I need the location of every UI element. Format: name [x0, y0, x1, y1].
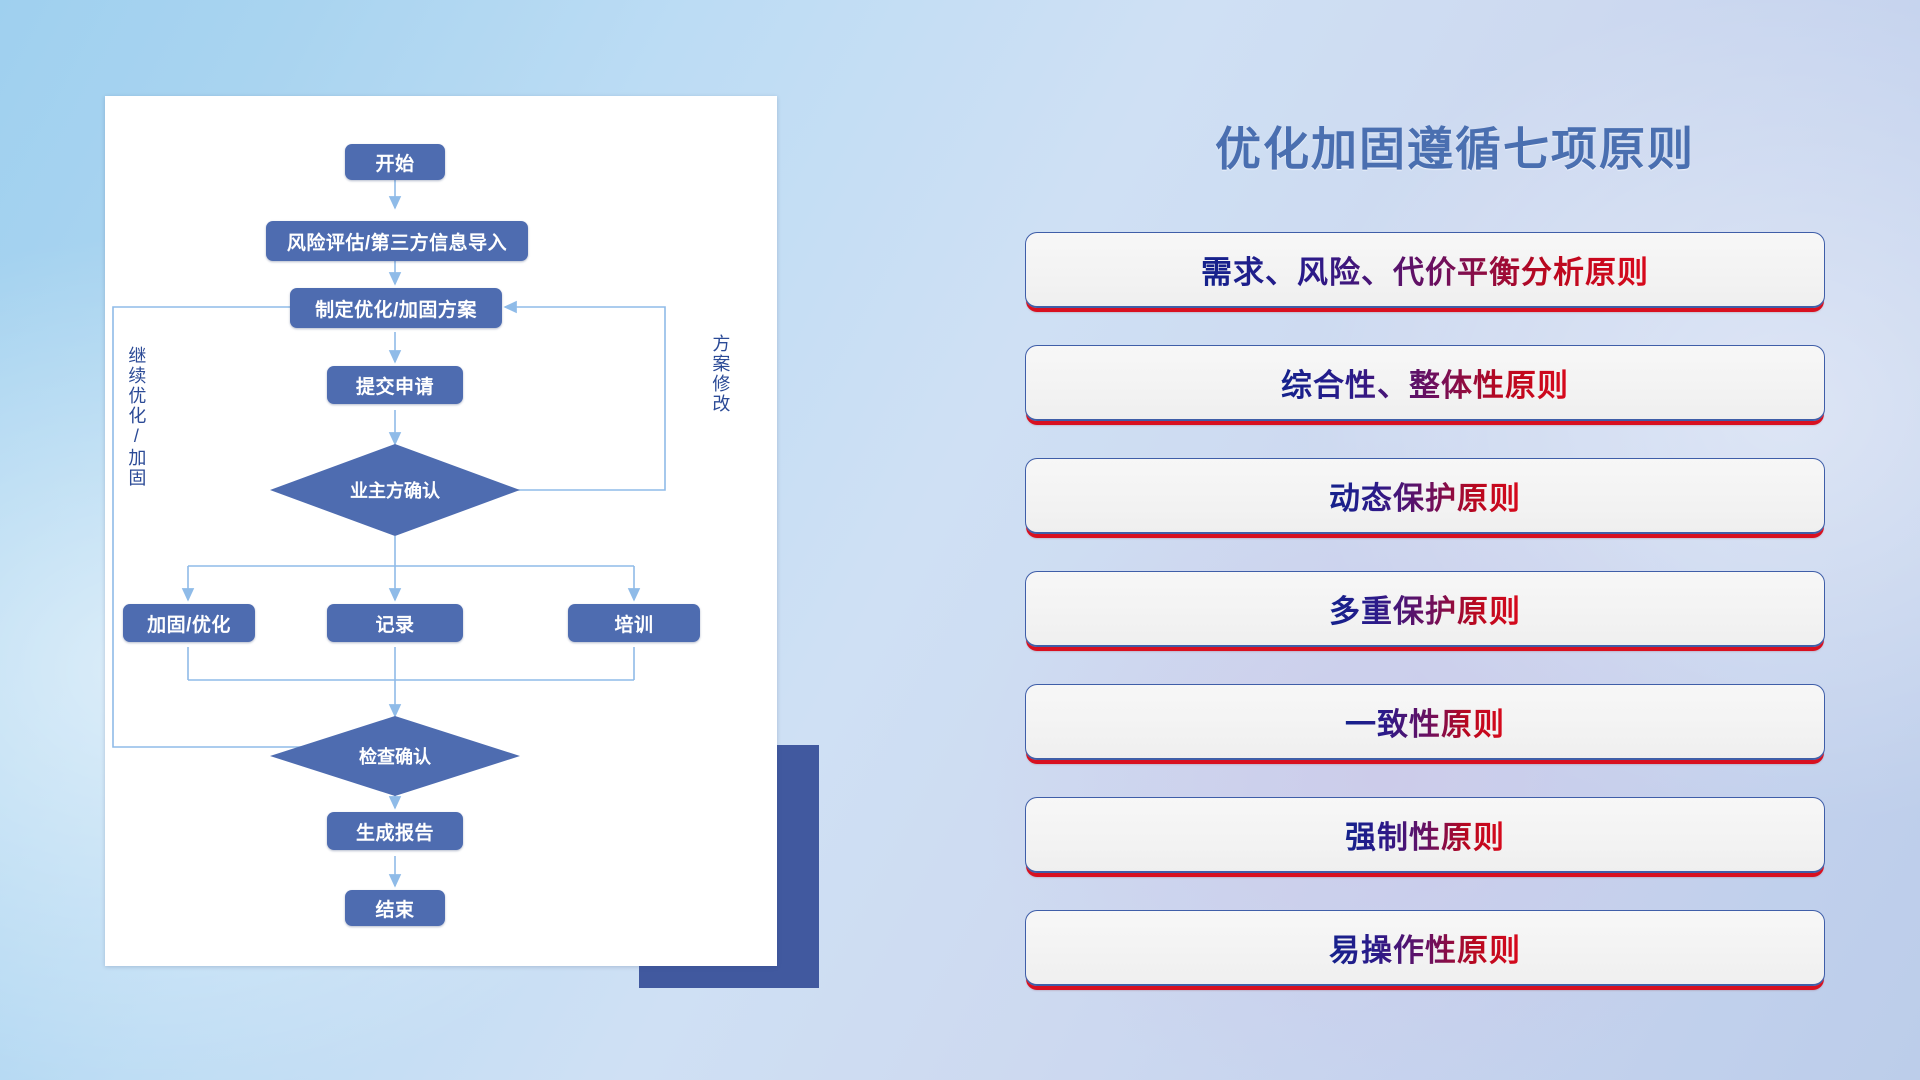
flow-node-plan[interactable]: 制定优化/加固方案	[290, 288, 502, 328]
flow-node-label: 结束	[375, 895, 414, 922]
flow-node-label: 业主方确认	[350, 477, 440, 503]
flow-node-label: 提交申请	[356, 372, 434, 399]
flow-node-record[interactable]: 记录	[327, 604, 463, 642]
principle-card-1[interactable]: 需求、风险、代价平衡分析原则	[1025, 232, 1825, 308]
principle-card-5[interactable]: 一致性原则	[1025, 684, 1825, 760]
principle-label: 多重保护原则	[1329, 586, 1521, 631]
principle-label: 动态保护原则	[1329, 473, 1521, 518]
flow-node-label: 加固/优化	[147, 610, 231, 637]
flow-node-training[interactable]: 培训	[568, 604, 700, 642]
flow-node-label: 生成报告	[356, 818, 434, 845]
flow-decision-check-confirm[interactable]: 检查确认	[270, 716, 520, 796]
flow-node-label: 培训	[614, 610, 653, 637]
principle-card-3[interactable]: 动态保护原则	[1025, 458, 1825, 534]
principle-card-7[interactable]: 易操作性原则	[1025, 910, 1825, 986]
flowchart-card: 开始 风险评估/第三方信息导入 制定优化/加固方案 提交申请 业主方确认 加固/…	[105, 96, 777, 966]
flow-node-report[interactable]: 生成报告	[327, 812, 463, 850]
flow-node-reinforce[interactable]: 加固/优化	[123, 604, 255, 642]
flow-node-end[interactable]: 结束	[345, 890, 445, 926]
flow-node-submit[interactable]: 提交申请	[327, 366, 463, 404]
principle-label: 综合性、整体性原则	[1281, 360, 1569, 405]
flow-node-label: 记录	[375, 610, 414, 637]
loop-label-right: 方案修改	[711, 334, 729, 414]
principles-list: 需求、风险、代价平衡分析原则 综合性、整体性原则 动态保护原则 多重保护原则 一…	[1025, 232, 1825, 1023]
flow-decision-owner-confirm[interactable]: 业主方确认	[270, 444, 520, 536]
principle-card-4[interactable]: 多重保护原则	[1025, 571, 1825, 647]
flow-node-label: 风险评估/第三方信息导入	[287, 228, 507, 255]
principle-label: 易操作性原则	[1329, 925, 1521, 970]
principle-card-2[interactable]: 综合性、整体性原则	[1025, 345, 1825, 421]
flow-node-label: 开始	[375, 149, 414, 176]
principle-card-6[interactable]: 强制性原则	[1025, 797, 1825, 873]
slide-root: 开始 风险评估/第三方信息导入 制定优化/加固方案 提交申请 业主方确认 加固/…	[0, 0, 1920, 1080]
page-title: 优化加固遵循七项原则	[1155, 113, 1755, 179]
flow-node-risk-assessment[interactable]: 风险评估/第三方信息导入	[266, 221, 528, 261]
principle-label: 需求、风险、代价平衡分析原则	[1201, 247, 1649, 292]
flow-node-label: 检查确认	[359, 743, 431, 769]
principle-label: 强制性原则	[1345, 812, 1505, 857]
flow-node-start[interactable]: 开始	[345, 144, 445, 180]
principle-label: 一致性原则	[1345, 699, 1505, 744]
flow-node-label: 制定优化/加固方案	[315, 295, 477, 322]
loop-label-left: 继续优化/加固	[127, 346, 145, 488]
